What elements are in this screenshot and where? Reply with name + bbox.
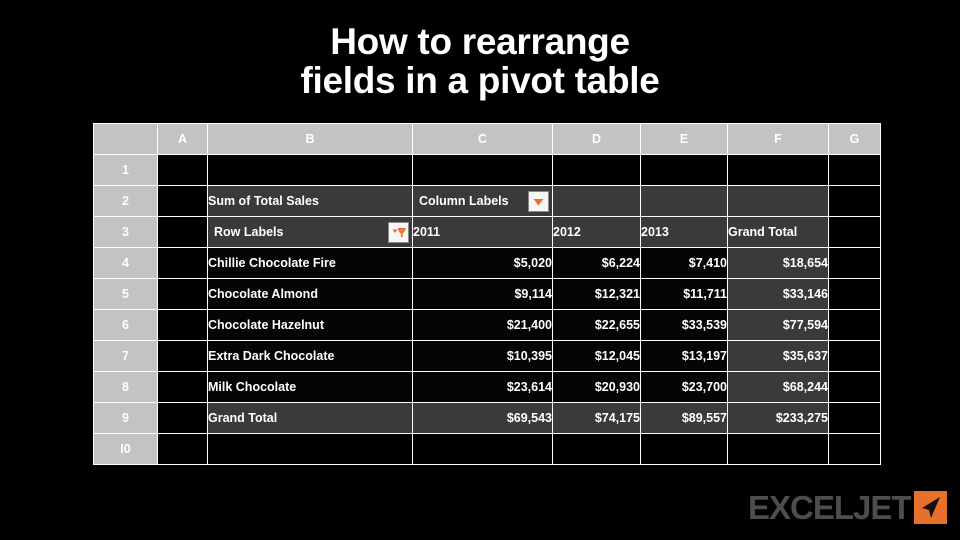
exceljet-logo: EXCELJET	[748, 489, 947, 525]
cell-g5[interactable]	[829, 279, 881, 310]
cell-b7-label[interactable]: Extra Dark Chocolate	[208, 341, 413, 372]
cell-b8-label[interactable]: Milk Chocolate	[208, 372, 413, 403]
cell-e10[interactable]	[641, 434, 728, 465]
column-header-c[interactable]: C	[413, 124, 553, 155]
cell-a6[interactable]	[158, 310, 208, 341]
cell-f2[interactable]	[728, 186, 829, 217]
cell-d1[interactable]	[553, 155, 641, 186]
page-title: How to rearrange fields in a pivot table	[0, 22, 960, 100]
cell-a10[interactable]	[158, 434, 208, 465]
column-header-e[interactable]: E	[641, 124, 728, 155]
column-labels-label: Column Labels	[419, 194, 509, 208]
cell-g4[interactable]	[829, 248, 881, 279]
cell-e3-header-2013[interactable]: 2013	[641, 217, 728, 248]
cell-b2-value-field[interactable]: Sum of Total Sales	[208, 186, 413, 217]
row-number-8[interactable]: 8	[94, 372, 158, 403]
cell-d7-2012[interactable]: $12,045	[553, 341, 641, 372]
spreadsheet-row-10: I0	[94, 434, 881, 465]
cell-f7-total[interactable]: $35,637	[728, 341, 829, 372]
cell-f6-total[interactable]: $77,594	[728, 310, 829, 341]
filter-funnel-icon[interactable]	[388, 222, 409, 243]
cell-e6-2013[interactable]: $33,539	[641, 310, 728, 341]
row-number-9[interactable]: 9	[94, 403, 158, 434]
row-number-1[interactable]: 1	[94, 155, 158, 186]
cell-e9-2013[interactable]: $89,557	[641, 403, 728, 434]
table-row: 4 Chillie Chocolate Fire $5,020 $6,224 $…	[94, 248, 881, 279]
cell-c7-2011[interactable]: $10,395	[413, 341, 553, 372]
cell-d2[interactable]	[553, 186, 641, 217]
title-line-1: How to rearrange	[0, 22, 960, 61]
row-number-5[interactable]: 5	[94, 279, 158, 310]
cell-b10[interactable]	[208, 434, 413, 465]
cell-e1[interactable]	[641, 155, 728, 186]
table-row: 8 Milk Chocolate $23,614 $20,930 $23,700…	[94, 372, 881, 403]
select-all-corner[interactable]	[94, 124, 158, 155]
cell-c3-header-2011[interactable]: 2011	[413, 217, 553, 248]
cell-f8-total[interactable]: $68,244	[728, 372, 829, 403]
spreadsheet-row-3: 3 Row Labels	[94, 217, 881, 248]
row-number-2[interactable]: 2	[94, 186, 158, 217]
table-row: 7 Extra Dark Chocolate $10,395 $12,045 $…	[94, 341, 881, 372]
spreadsheet-grid: A B C D E F G 1 2	[93, 123, 880, 465]
table-row: 6 Chocolate Hazelnut $21,400 $22,655 $33…	[94, 310, 881, 341]
value-field-label: Sum of Total Sales	[208, 194, 319, 208]
row-number-6[interactable]: 6	[94, 310, 158, 341]
cell-e8-2013[interactable]: $23,700	[641, 372, 728, 403]
row-labels-label: Row Labels	[214, 225, 283, 239]
spreadsheet-row-1: 1	[94, 155, 881, 186]
cell-g1[interactable]	[829, 155, 881, 186]
cell-d9-2012[interactable]: $74,175	[553, 403, 641, 434]
cell-a7[interactable]	[158, 341, 208, 372]
cell-a9[interactable]	[158, 403, 208, 434]
cell-d6-2012[interactable]: $22,655	[553, 310, 641, 341]
table-row: 5 Chocolate Almond $9,114 $12,321 $11,71…	[94, 279, 881, 310]
cell-c6-2011[interactable]: $21,400	[413, 310, 553, 341]
jet-arrow-icon	[914, 491, 947, 524]
chevron-down-icon[interactable]	[528, 191, 549, 212]
cell-a4[interactable]	[158, 248, 208, 279]
column-header-a[interactable]: A	[158, 124, 208, 155]
row-number-7[interactable]: 7	[94, 341, 158, 372]
cell-f9-total[interactable]: $233,275	[728, 403, 829, 434]
cell-g3[interactable]	[829, 217, 881, 248]
cell-c8-2011[interactable]: $23,614	[413, 372, 553, 403]
column-header-g[interactable]: G	[829, 124, 881, 155]
grand-total-row: 9 Grand Total $69,543 $74,175 $89,557 $2…	[94, 403, 881, 434]
cell-a1[interactable]	[158, 155, 208, 186]
cell-e4-2013[interactable]: $7,410	[641, 248, 728, 279]
cell-b6-label[interactable]: Chocolate Hazelnut	[208, 310, 413, 341]
spreadsheet-row-2: 2 Sum of Total Sales Column Labels	[94, 186, 881, 217]
row-number-10[interactable]: I0	[94, 434, 158, 465]
row-number-4[interactable]: 4	[94, 248, 158, 279]
cell-e5-2013[interactable]: $11,711	[641, 279, 728, 310]
column-header-d[interactable]: D	[553, 124, 641, 155]
cell-c9-2011[interactable]: $69,543	[413, 403, 553, 434]
cell-c10[interactable]	[413, 434, 553, 465]
cell-e2[interactable]	[641, 186, 728, 217]
cell-g8[interactable]	[829, 372, 881, 403]
cell-f4-total[interactable]: $18,654	[728, 248, 829, 279]
cell-d10[interactable]	[553, 434, 641, 465]
excel-table: A B C D E F G 1 2	[93, 123, 881, 465]
cell-g2[interactable]	[829, 186, 881, 217]
cell-b3-row-labels[interactable]: Row Labels	[208, 217, 413, 248]
cell-f10[interactable]	[728, 434, 829, 465]
cell-c2-column-labels[interactable]: Column Labels	[413, 186, 553, 217]
cell-g9[interactable]	[829, 403, 881, 434]
cell-a3[interactable]	[158, 217, 208, 248]
cell-b5-label[interactable]: Chocolate Almond	[208, 279, 413, 310]
cell-a8[interactable]	[158, 372, 208, 403]
cell-b4-label[interactable]: Chillie Chocolate Fire	[208, 248, 413, 279]
cell-c1[interactable]	[413, 155, 553, 186]
cell-f1[interactable]	[728, 155, 829, 186]
cell-d3-header-2012[interactable]: 2012	[553, 217, 641, 248]
cell-f3-header-grand-total[interactable]: Grand Total	[728, 217, 829, 248]
cell-g10[interactable]	[829, 434, 881, 465]
logo-wordmark: EXCELJET	[748, 491, 911, 524]
column-header-f[interactable]: F	[728, 124, 829, 155]
cell-c5-2011[interactable]: $9,114	[413, 279, 553, 310]
cell-c4-2011[interactable]: $5,020	[413, 248, 553, 279]
cell-g6[interactable]	[829, 310, 881, 341]
column-header-b[interactable]: B	[208, 124, 413, 155]
cell-d5-2012[interactable]: $12,321	[553, 279, 641, 310]
cell-d8-2012[interactable]: $20,930	[553, 372, 641, 403]
cell-d4-2012[interactable]: $6,224	[553, 248, 641, 279]
cell-a2[interactable]	[158, 186, 208, 217]
cell-a5[interactable]	[158, 279, 208, 310]
cell-f5-total[interactable]: $33,146	[728, 279, 829, 310]
cell-g7[interactable]	[829, 341, 881, 372]
title-line-2: fields in a pivot table	[0, 61, 960, 100]
cell-b1[interactable]	[208, 155, 413, 186]
cell-b9-grand-total-label[interactable]: Grand Total	[208, 403, 413, 434]
row-number-3[interactable]: 3	[94, 217, 158, 248]
cell-e7-2013[interactable]: $13,197	[641, 341, 728, 372]
column-header-row: A B C D E F G	[94, 124, 881, 155]
